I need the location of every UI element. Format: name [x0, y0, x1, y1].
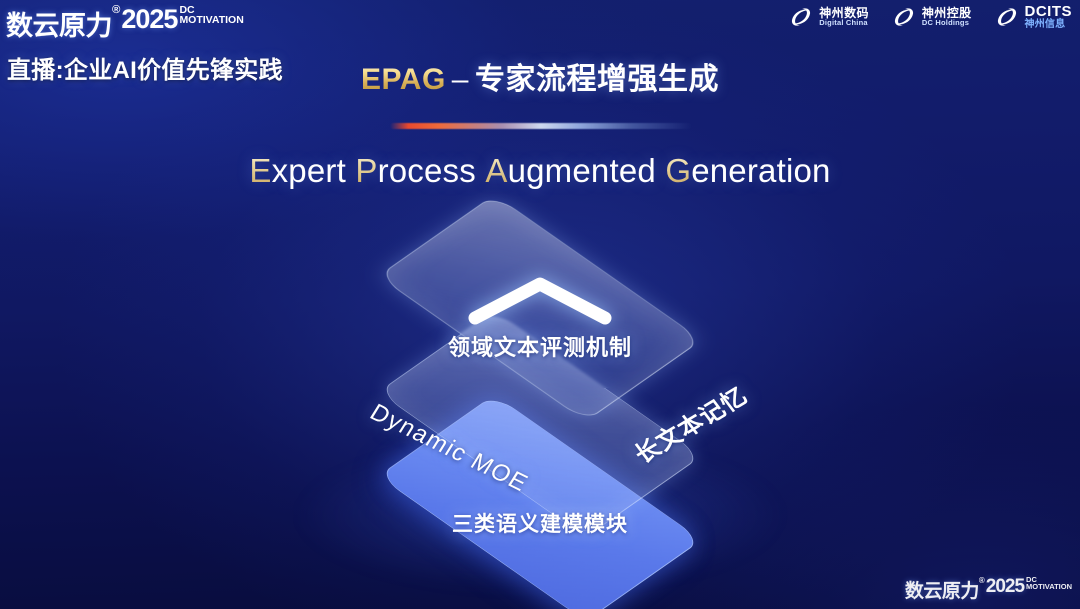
watermark-tagline-line2: MOTIVATION	[1026, 584, 1072, 591]
layer-label-top: 领域文本评测机制	[0, 330, 1080, 362]
watermark-tagline: DC MOTIVATION	[1026, 576, 1072, 591]
presentation-slide: 数云原力 ® 2025 DC MOTIVATION 直播:企业AI价值先锋实践 …	[0, 0, 1080, 609]
chevron-up-icon	[465, 272, 615, 328]
watermark-registered-mark: ®	[979, 576, 985, 585]
watermark-year: 2025	[986, 576, 1024, 598]
layer-stack-diagram: 领域文本评测机制 Dynamic MOE 长文本记忆 三类语义建模模块	[0, 0, 1080, 609]
watermark-name-cn: 数云原力	[905, 576, 979, 603]
watermark-brand-logo: 数云原力 ® 2025 DC MOTIVATION	[905, 576, 1072, 603]
layer-label-bottom: 三类语义建模模块	[0, 508, 1080, 538]
